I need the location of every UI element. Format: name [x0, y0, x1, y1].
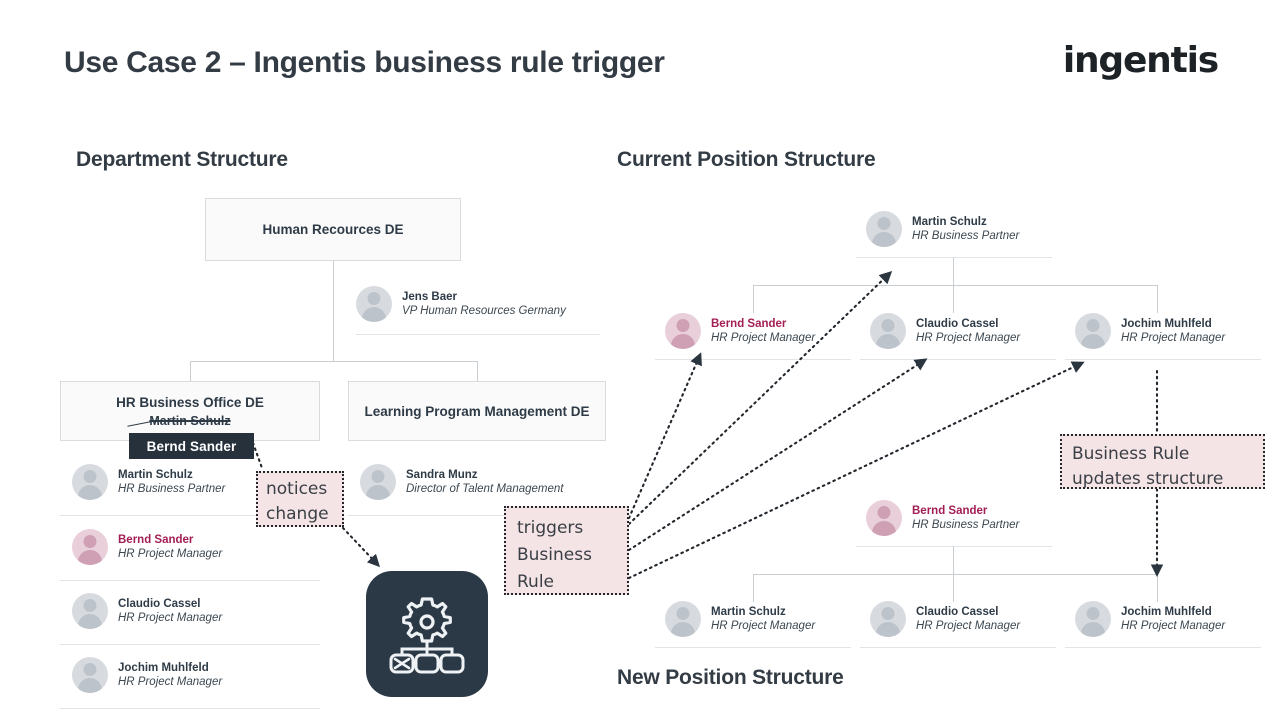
connector-current-drop-3 — [1157, 285, 1158, 313]
person-name: Claudio Cassel — [118, 597, 222, 611]
connector-current-stem — [953, 257, 954, 285]
unit-box-learning-program-management-de[interactable]: Learning Program Management DE — [348, 381, 606, 441]
connector-new-drop-3 — [1157, 574, 1158, 602]
person-card-sandra-munz[interactable]: Sandra Munz Director of Talent Managemen… — [360, 464, 563, 500]
slide-canvas: Use Case 2 – Ingentis business rule trig… — [0, 0, 1280, 720]
person-divider — [60, 644, 320, 645]
person-divider — [655, 359, 851, 360]
person-card-bernd-sander-current[interactable]: Bernd Sander HR Project Manager — [665, 313, 815, 349]
business-rule-engine-icon[interactable] — [366, 571, 488, 697]
person-name: Jochim Muhlfeld — [1121, 317, 1225, 331]
avatar — [72, 593, 108, 629]
person-name: Martin Schulz — [711, 605, 815, 619]
org-chart-gear-icon — [389, 593, 465, 675]
person-name: Claudio Cassel — [916, 317, 1020, 331]
person-card-claudio-cassel-dept[interactable]: Claudio Cassel HR Project Manager — [72, 593, 222, 629]
connector-current-drop-1 — [753, 285, 754, 313]
person-divider — [1065, 647, 1261, 648]
person-divider — [856, 257, 1052, 258]
person-role: HR Project Manager — [916, 331, 1020, 346]
person-divider — [60, 580, 320, 581]
arrow-trigger-to-bernd-current — [629, 355, 700, 518]
connector-root-vertical — [333, 261, 334, 361]
person-role: HR Project Manager — [916, 619, 1020, 634]
person-card-claudio-cassel-current[interactable]: Claudio Cassel HR Project Manager — [870, 313, 1020, 349]
person-role: HR Business Partner — [912, 229, 1019, 244]
avatar — [870, 601, 906, 637]
unit-box-label: Human Recources DE — [262, 221, 403, 238]
person-name: Bernd Sander — [711, 317, 815, 331]
avatar — [1075, 313, 1111, 349]
connector-branch-left — [190, 361, 191, 381]
page-title: Use Case 2 – Ingentis business rule trig… — [64, 46, 665, 80]
heading-current-position-structure: Current Position Structure — [617, 148, 876, 172]
person-name: Jens Baer — [402, 290, 566, 304]
person-card-jochim-muhlfeld-new[interactable]: Jochim Muhlfeld HR Project Manager — [1075, 601, 1225, 637]
arrow-trigger-to-martin-top — [629, 273, 890, 524]
person-role: HR Project Manager — [118, 547, 222, 562]
avatar — [665, 313, 701, 349]
connector-current-drop-2 — [953, 285, 954, 313]
person-role: VP Human Resources Germany — [402, 304, 566, 319]
person-name: Claudio Cassel — [916, 605, 1020, 619]
unit-box-label: Learning Program Management DE — [364, 403, 589, 420]
connector-new-bus — [753, 574, 1158, 575]
person-divider — [356, 334, 600, 335]
avatar — [866, 500, 902, 536]
person-role: HR Project Manager — [711, 619, 815, 634]
connector-new-stem — [953, 546, 954, 574]
avatar — [72, 657, 108, 693]
person-name: Jochim Muhlfeld — [1121, 605, 1225, 619]
avatar — [1075, 601, 1111, 637]
avatar — [665, 601, 701, 637]
connector-branch-right — [477, 361, 478, 381]
person-card-bernd-sander-dept[interactable]: Bernd Sander HR Project Manager — [72, 529, 222, 565]
unit-box-human-recources-de[interactable]: Human Recources DE — [205, 198, 461, 261]
person-divider — [860, 647, 1056, 648]
unit-manager-old-struck: Martin Schulz — [149, 413, 230, 429]
person-card-jens-baer[interactable]: Jens Baer VP Human Resources Germany — [356, 286, 566, 322]
person-card-claudio-cassel-new[interactable]: Claudio Cassel HR Project Manager — [870, 601, 1020, 637]
arrow-notices-to-engine — [343, 528, 378, 565]
person-card-martin-schulz-current-top[interactable]: Martin Schulz HR Business Partner — [866, 211, 1019, 247]
avatar — [72, 529, 108, 565]
person-card-jochim-muhlfeld-current[interactable]: Jochim Muhlfeld HR Project Manager — [1075, 313, 1225, 349]
arrow-tooltip-to-notices — [253, 443, 262, 468]
unit-box-hr-business-office-de[interactable]: HR Business Office DE Martin Schulz — [60, 381, 320, 441]
person-role: HR Project Manager — [118, 611, 222, 626]
connector-root-horizontal — [190, 361, 478, 362]
person-card-martin-schulz-dept[interactable]: Martin Schulz HR Business Partner — [72, 464, 225, 500]
tooltip-new-manager: Bernd Sander — [129, 433, 254, 459]
connector-current-bus — [753, 285, 1158, 286]
ingentis-logo: ingentis — [1063, 40, 1218, 81]
avatar — [72, 464, 108, 500]
callout-notices-change: notices change — [256, 471, 344, 527]
person-name: Bernd Sander — [912, 504, 1019, 518]
heading-department-structure: Department Structure — [76, 148, 288, 172]
person-divider — [1065, 359, 1261, 360]
person-role: HR Project Manager — [1121, 619, 1225, 634]
avatar — [870, 313, 906, 349]
person-name: Jochim Muhlfeld — [118, 661, 222, 675]
connector-new-drop-1 — [753, 574, 754, 602]
avatar — [866, 211, 902, 247]
person-role: Director of Talent Management — [406, 482, 563, 497]
avatar — [360, 464, 396, 500]
person-name: Martin Schulz — [118, 468, 225, 482]
person-divider — [655, 647, 851, 648]
person-divider — [60, 708, 320, 709]
callout-business-rule-updates-structure: Business Rule updates structure — [1060, 434, 1265, 489]
person-divider — [860, 359, 1056, 360]
callout-triggers-business-rule: triggers Business Rule — [504, 506, 629, 595]
person-name: Sandra Munz — [406, 468, 563, 482]
person-role: HR Business Partner — [118, 482, 225, 497]
person-card-jochim-muhlfeld-dept[interactable]: Jochim Muhlfeld HR Project Manager — [72, 657, 222, 693]
person-role: HR Project Manager — [711, 331, 815, 346]
heading-new-position-structure: New Position Structure — [617, 666, 844, 690]
person-role: HR Project Manager — [1121, 331, 1225, 346]
person-name: Martin Schulz — [912, 215, 1019, 229]
person-role: HR Project Manager — [118, 675, 222, 690]
person-divider — [856, 546, 1052, 547]
unit-box-label: HR Business Office DE — [116, 394, 264, 411]
person-card-bernd-sander-new-top[interactable]: Bernd Sander HR Business Partner — [866, 500, 1019, 536]
connector-new-drop-2 — [953, 574, 954, 602]
person-name: Bernd Sander — [118, 533, 222, 547]
person-role: HR Business Partner — [912, 518, 1019, 533]
avatar — [356, 286, 392, 322]
person-card-martin-schulz-new[interactable]: Martin Schulz HR Project Manager — [665, 601, 815, 637]
